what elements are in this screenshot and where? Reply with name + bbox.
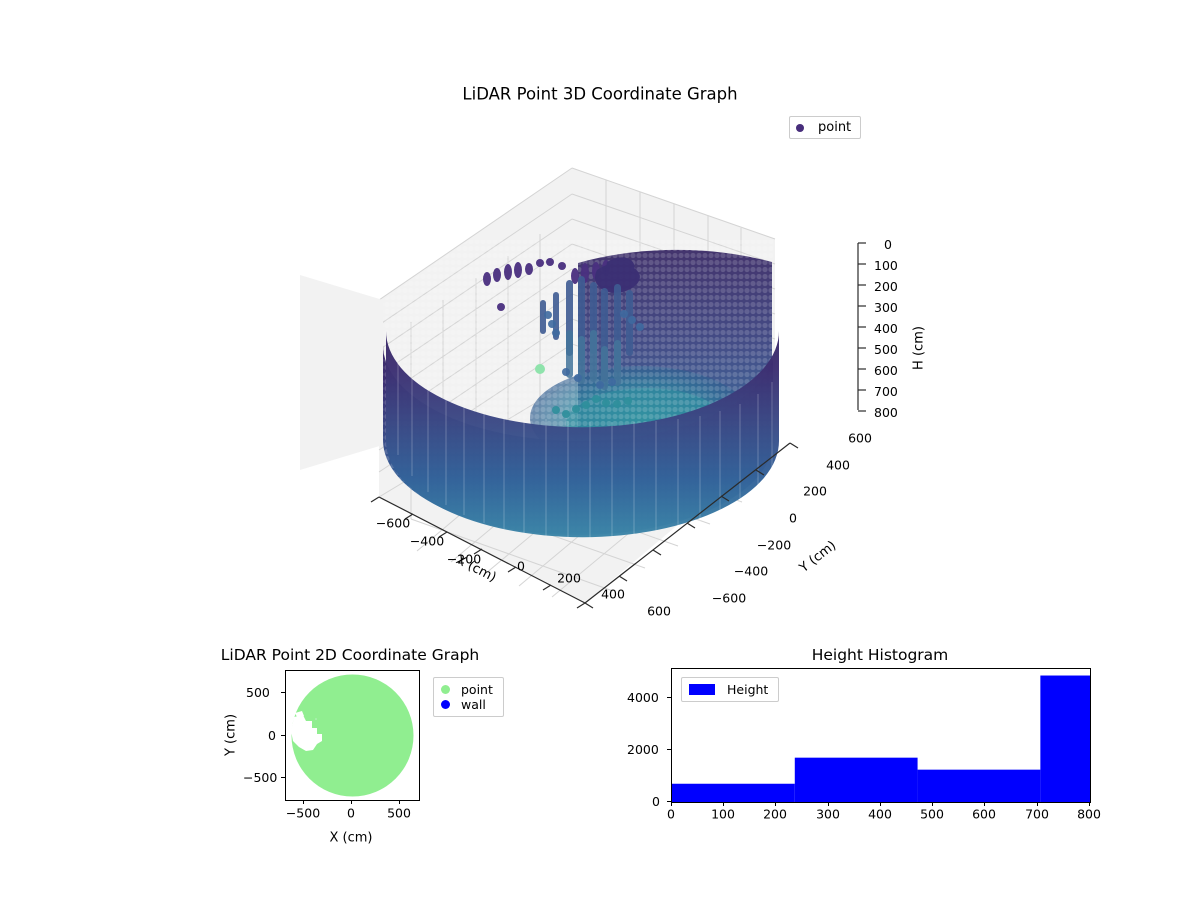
plot2d-xtick-0: 0	[347, 806, 355, 821]
legend-label-height: Height	[727, 682, 768, 697]
hist-xtickmark-100	[723, 802, 724, 806]
plot3d-point-cloud	[300, 240, 779, 560]
plot2d-ytickmark-0	[281, 735, 285, 736]
plot2d-ytick-0: 0	[268, 728, 276, 743]
plot2d-xtickmark-0	[351, 800, 352, 804]
hist-xtickmark-600	[984, 802, 985, 806]
hist-xtickmark-200	[775, 802, 776, 806]
plot3d-htick-400: 400	[874, 321, 898, 336]
plot3d-ytick--200: −200	[757, 538, 791, 553]
plot3d-xtick-400: 400	[601, 587, 625, 602]
hist-xtick-600: 600	[972, 807, 996, 822]
hist-xtick-300: 300	[816, 807, 840, 822]
hist-xtickmark-0	[671, 802, 672, 806]
hist-xtickmark-800	[1089, 802, 1090, 806]
plot3d-xtick--400: −400	[410, 534, 444, 549]
plot3d-ytick-0: 0	[789, 511, 797, 526]
plot3d-h-ticks	[858, 243, 866, 411]
plot3d-ytick-200: 200	[803, 484, 827, 499]
histogram-bar	[672, 784, 795, 802]
hist-xtickmark-300	[828, 802, 829, 806]
histogram-bar	[1040, 676, 1090, 802]
hist-ytickmark-4000	[667, 697, 671, 698]
plot3d-htick-300: 300	[874, 300, 898, 315]
plot2d-yaxis-label: Y (cm)	[224, 714, 239, 756]
plot2d-axes	[285, 670, 420, 801]
hist-xtick-800: 800	[1077, 807, 1101, 822]
plot3d-ytick-400: 400	[826, 458, 850, 473]
plot2d-xtick--500: −500	[286, 806, 320, 821]
legend-label-wall-2d: wall	[461, 697, 486, 712]
plot2d-ytickmark--500	[281, 777, 285, 778]
plot3d-htick-800: 800	[874, 405, 898, 420]
plot2d-xaxis-label: X (cm)	[330, 831, 373, 846]
legend-row-point-2d: point	[441, 682, 493, 697]
plot3d-xtick-200: 200	[557, 571, 581, 586]
hist-xtick-500: 500	[920, 807, 944, 822]
plot3d-htick-600: 600	[874, 363, 898, 378]
plot3d-ytick--400: −400	[734, 564, 768, 579]
plot2d-xtick-500: 500	[387, 806, 411, 821]
hist-xtick-200: 200	[763, 807, 787, 822]
legend-row-wall-2d: wall	[441, 697, 493, 712]
plot3d-htick-700: 700	[874, 384, 898, 399]
histogram-bar	[918, 770, 1041, 802]
legend-swatch-height	[689, 684, 715, 695]
legend-label-point-2d: point	[461, 682, 493, 697]
plot2d-ytick--500: −500	[243, 770, 277, 785]
plot3d-xtick-600: 600	[647, 604, 671, 619]
hist-ytick-4000: 4000	[627, 690, 659, 705]
plot2d-xtickmark--500	[303, 800, 304, 804]
histogram-bar	[795, 758, 918, 802]
plot3d-htick-100: 100	[874, 258, 898, 273]
plot3d-ytick-600: 600	[848, 431, 872, 446]
histogram-legend: Height	[681, 677, 779, 702]
hist-xtickmark-400	[880, 802, 881, 806]
legend-marker-wall-2d	[441, 700, 450, 709]
plot3d-htick-0: 0	[884, 237, 892, 252]
hist-ytickmark-2000	[667, 749, 671, 750]
hist-xtickmark-500	[932, 802, 933, 806]
legend-marker-point-2d	[441, 685, 450, 694]
lidar-3d-panel: LiDAR Point 3D Coordinate Graph point	[0, 0, 1200, 630]
plot3d-ytick--600: −600	[712, 591, 746, 606]
plot2d-legend: point wall	[433, 677, 504, 717]
hist-xtick-400: 400	[868, 807, 892, 822]
plot3d-htick-200: 200	[874, 279, 898, 294]
plot3d-scene	[0, 0, 1200, 630]
plot2d-title: LiDAR Point 2D Coordinate Graph	[221, 646, 479, 664]
hist-xtick-0: 0	[667, 807, 675, 822]
plot2d-ytickmark-500	[281, 692, 285, 693]
plot3d-xtick-0: 0	[517, 559, 525, 574]
plot2d-ytick-500: 500	[246, 685, 270, 700]
plot2d-xtickmark-500	[399, 800, 400, 804]
plot3d-haxis-label: H (cm)	[912, 326, 927, 370]
plot3d-xtick--600: −600	[376, 516, 410, 531]
plot2d-scatter	[286, 671, 419, 800]
hist-ytick-2000: 2000	[627, 742, 659, 757]
figure-canvas: LiDAR Point 3D Coordinate Graph point	[0, 0, 1200, 900]
hist-xtick-700: 700	[1025, 807, 1049, 822]
hist-xtick-100: 100	[711, 807, 735, 822]
hist-ytick-0: 0	[652, 794, 660, 809]
outlier-point-3d	[535, 364, 545, 374]
histogram-title: Height Histogram	[812, 646, 949, 664]
plot3d-htick-500: 500	[874, 342, 898, 357]
hist-xtickmark-700	[1037, 802, 1038, 806]
